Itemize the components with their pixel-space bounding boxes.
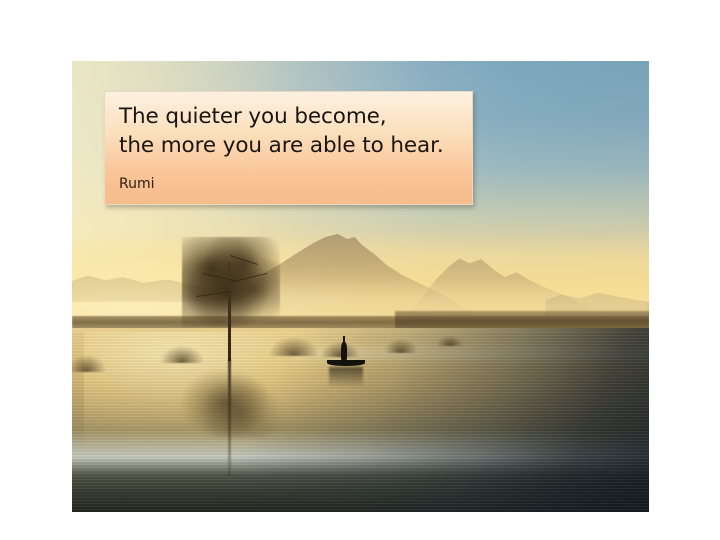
tree-canopy-reflection (182, 361, 280, 438)
quote-author: Rumi (119, 176, 458, 192)
quote-text-box: The quieter you become, the more you are… (104, 91, 473, 205)
boat-reflection (329, 367, 362, 387)
grass-clump (72, 354, 107, 372)
tree-trunk (228, 262, 231, 361)
grass-clump (436, 335, 465, 346)
boat-figure (341, 342, 347, 361)
grass-clump (159, 345, 205, 363)
grass-clump (268, 336, 320, 356)
grass-clump (384, 338, 419, 352)
quote-slide: The quieter you become, the more you are… (0, 0, 720, 540)
quote-text: The quieter you become, the more you are… (119, 103, 458, 160)
